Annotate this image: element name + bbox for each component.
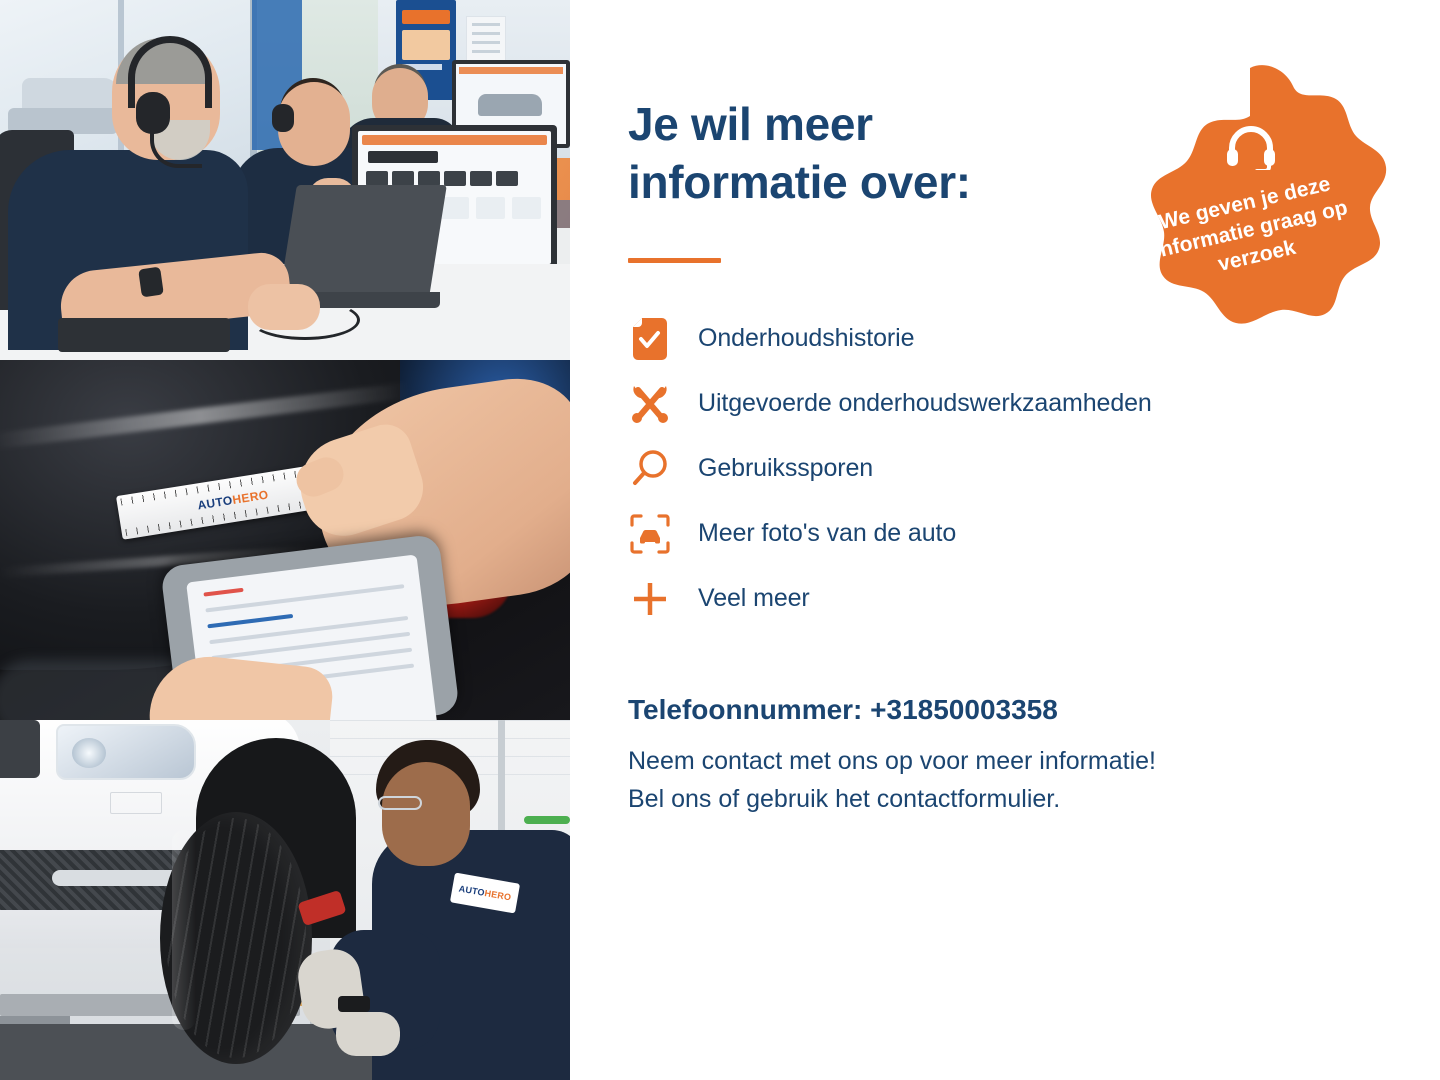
screen-car-image bbox=[478, 94, 542, 116]
magnifier-icon bbox=[628, 447, 672, 491]
screen-search-field bbox=[368, 151, 438, 163]
screen-car-thumbnails bbox=[366, 171, 518, 186]
phone-number: Telefoonnummer: +31850003358 bbox=[628, 694, 1058, 726]
car-photo-frame-icon bbox=[628, 512, 672, 556]
screen-header-bar bbox=[459, 67, 563, 74]
feature-item-onderhoudshistorie: Onderhoudshistorie bbox=[628, 306, 1328, 371]
technician-head bbox=[382, 762, 470, 866]
feature-item-veel-meer: Veel meer bbox=[628, 566, 1328, 631]
poster-stripe bbox=[402, 10, 450, 24]
wristwatch bbox=[138, 267, 164, 298]
page-title: Je wil meer informatie over: bbox=[628, 96, 1188, 212]
contact-line-1: Neem contact met ons op voor meer inform… bbox=[628, 747, 1156, 775]
plus-icon bbox=[628, 577, 672, 621]
technician-glasses bbox=[378, 796, 422, 810]
headline-line-2: informatie over: bbox=[628, 156, 971, 208]
headset-icon bbox=[1225, 124, 1277, 170]
agent-two-headset bbox=[272, 104, 294, 132]
tools-wrench-screwdriver-icon bbox=[628, 382, 672, 426]
feature-item-meer-fotos: Meer foto's van de auto bbox=[628, 501, 1328, 566]
logo-suffix: HERO bbox=[484, 888, 512, 903]
logo-prefix: AUTO bbox=[197, 493, 234, 512]
screen-header-bar bbox=[362, 135, 547, 145]
feature-label: Meer foto's van de auto bbox=[698, 519, 956, 548]
contact-line-2: Bel ons of gebruik het contactformulier. bbox=[628, 785, 1060, 813]
feature-label: Gebruikssporen bbox=[698, 454, 873, 483]
laptop-lid bbox=[279, 185, 447, 297]
tyre-highlight bbox=[172, 830, 196, 1030]
headline-line-1: Je wil meer bbox=[628, 98, 873, 150]
on-request-badge: We geven je deze informatie graag op ver… bbox=[1108, 62, 1393, 342]
promo-page: AUTOHERO bbox=[0, 0, 1440, 1080]
feature-item-gebruikssporen: Gebruikssporen bbox=[628, 436, 1328, 501]
orange-divider bbox=[628, 258, 721, 263]
agent-one-hand bbox=[248, 284, 320, 330]
document-check-icon bbox=[628, 317, 672, 361]
poster-image bbox=[402, 30, 450, 60]
car-grille bbox=[0, 720, 40, 778]
desk-tablet bbox=[58, 318, 230, 352]
call-centre-agents-photo bbox=[0, 0, 570, 360]
green-hose bbox=[524, 816, 570, 824]
workshop-tyre-technician-photo: AUTOHERO bbox=[0, 720, 570, 1080]
feature-label: Veel meer bbox=[698, 584, 810, 613]
feature-label: Onderhoudshistorie bbox=[698, 324, 914, 353]
contact-text: Neem contact met ons op voor meer inform… bbox=[628, 742, 1368, 818]
car-inspection-ruler-photo: AUTOHERO bbox=[0, 360, 570, 720]
logo-prefix: AUTO bbox=[458, 883, 485, 897]
technician-watch bbox=[338, 996, 370, 1012]
feature-list: Onderhoudshistorie Uitgevoerd bbox=[628, 306, 1328, 631]
work-glove bbox=[336, 1012, 400, 1056]
car-headlight bbox=[56, 724, 196, 780]
feature-item-onderhoudswerkzaamheden: Uitgevoerde onderhoudswerkzaamheden bbox=[628, 371, 1328, 436]
content-column: Je wil meer informatie over: We geven je… bbox=[570, 0, 1440, 1080]
feature-label: Uitgevoerde onderhoudswerkzaamheden bbox=[698, 389, 1152, 418]
number-plate-recess bbox=[110, 792, 162, 814]
photo-column: AUTOHERO bbox=[0, 0, 570, 1080]
logo-suffix: HERO bbox=[231, 487, 269, 507]
